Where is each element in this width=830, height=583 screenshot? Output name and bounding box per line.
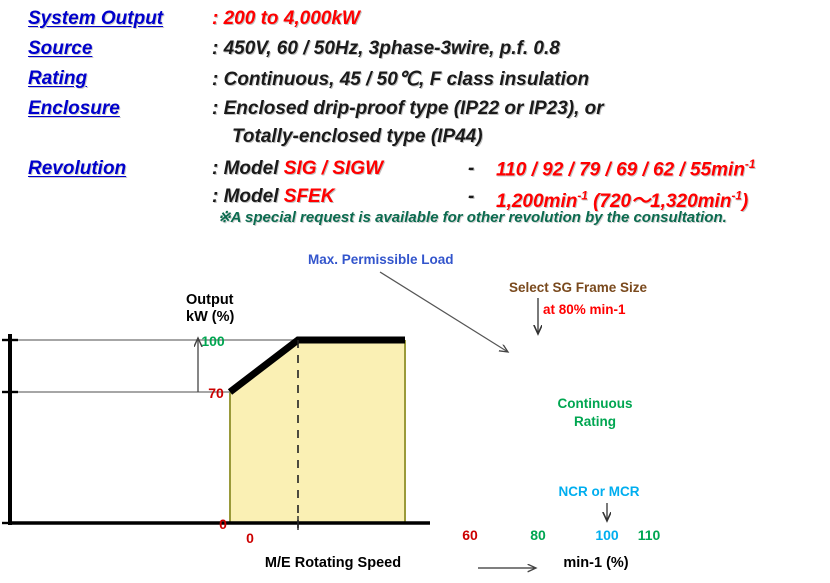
spec-label-rating: Rating xyxy=(28,68,87,90)
spec-note: ※A special request is available for othe… xyxy=(218,208,727,226)
continuous-rating-label-line2: Rating xyxy=(574,414,616,429)
load-diagram-chart: Output kW (%) 100 70 0 0 60 80 100 110 m… xyxy=(0,240,830,583)
ncr-or-mcr-label: NCR or MCR xyxy=(559,484,640,499)
spec-row-system-output: System Output : 200 to 4,000kW xyxy=(0,8,830,34)
spec-revolution-dash-1: - xyxy=(468,158,474,180)
y-axis-label-line1: Output xyxy=(186,292,234,308)
spec-value-source: : 450V, 60 / 50Hz, 3phase-3wire, p.f. 0.… xyxy=(212,38,560,60)
y-tick-label-100: 100 xyxy=(201,333,225,349)
x-tick-label-0: 0 xyxy=(246,530,254,546)
select-sg-frame-size-label: Select SG Frame Size xyxy=(509,280,648,295)
continuous-rating-label-line1: Continuous xyxy=(558,396,633,411)
continuous-rating-region xyxy=(230,340,405,523)
spec-value-enclosure-line1: : Enclosed drip-proof type (IP22 or IP23… xyxy=(212,98,604,120)
x-tick-label-110: 110 xyxy=(638,527,661,543)
specification-text-block: System Output : 200 to 4,000kW Source : … xyxy=(0,0,830,232)
spec-label-enclosure: Enclosure xyxy=(28,98,120,120)
spec-row-enclosure-cont: Totally-enclosed type (IP44) xyxy=(0,126,830,152)
at-80-percent-label: at 80% min-1 xyxy=(543,302,626,317)
spec-label-source: Source xyxy=(28,38,92,60)
spec-revolution-dash-2: - xyxy=(468,186,474,208)
spec-value-system-output: : 200 to 4,000kW xyxy=(212,8,360,30)
y-tick-label-70: 70 xyxy=(208,385,224,401)
x-axis-unit-label: min-1 (%) xyxy=(563,555,628,571)
spec-value-revolution-model-2: : Model SFEK xyxy=(212,186,334,208)
spec-row-rating: Rating : Continuous, 45 / 50℃, F class i… xyxy=(0,68,830,94)
spec-label-system-output: System Output xyxy=(28,8,163,30)
x-tick-label-80: 80 xyxy=(530,527,546,543)
spec-row-revolution-1: Revolution : Model SIG / SIGW - 110 / 92… xyxy=(0,158,830,184)
spec-value-enclosure-line2: Totally-enclosed type (IP44) xyxy=(232,126,483,148)
x-tick-label-100: 100 xyxy=(595,527,619,543)
x-tick-label-60: 60 xyxy=(462,527,478,543)
spec-value-rating: : Continuous, 45 / 50℃, F class insulati… xyxy=(212,68,589,91)
spec-revolution-value-1: 110 / 92 / 79 / 69 / 62 / 55min-1 xyxy=(496,158,755,181)
y-axis-label-line2: kW (%) xyxy=(186,309,235,325)
spec-row-enclosure: Enclosure : Enclosed drip-proof type (IP… xyxy=(0,98,830,124)
x-axis-title: M/E Rotating Speed xyxy=(265,555,401,571)
spec-value-revolution-model-1: : Model SIG / SIGW xyxy=(212,158,383,180)
spec-row-note: ※A special request is available for othe… xyxy=(0,208,830,234)
spec-label-revolution: Revolution xyxy=(28,158,126,180)
y-tick-label-0: 0 xyxy=(219,516,227,532)
max-permissible-load-label: Max. Permissible Load xyxy=(308,252,454,267)
spec-row-source: Source : 450V, 60 / 50Hz, 3phase-3wire, … xyxy=(0,38,830,64)
